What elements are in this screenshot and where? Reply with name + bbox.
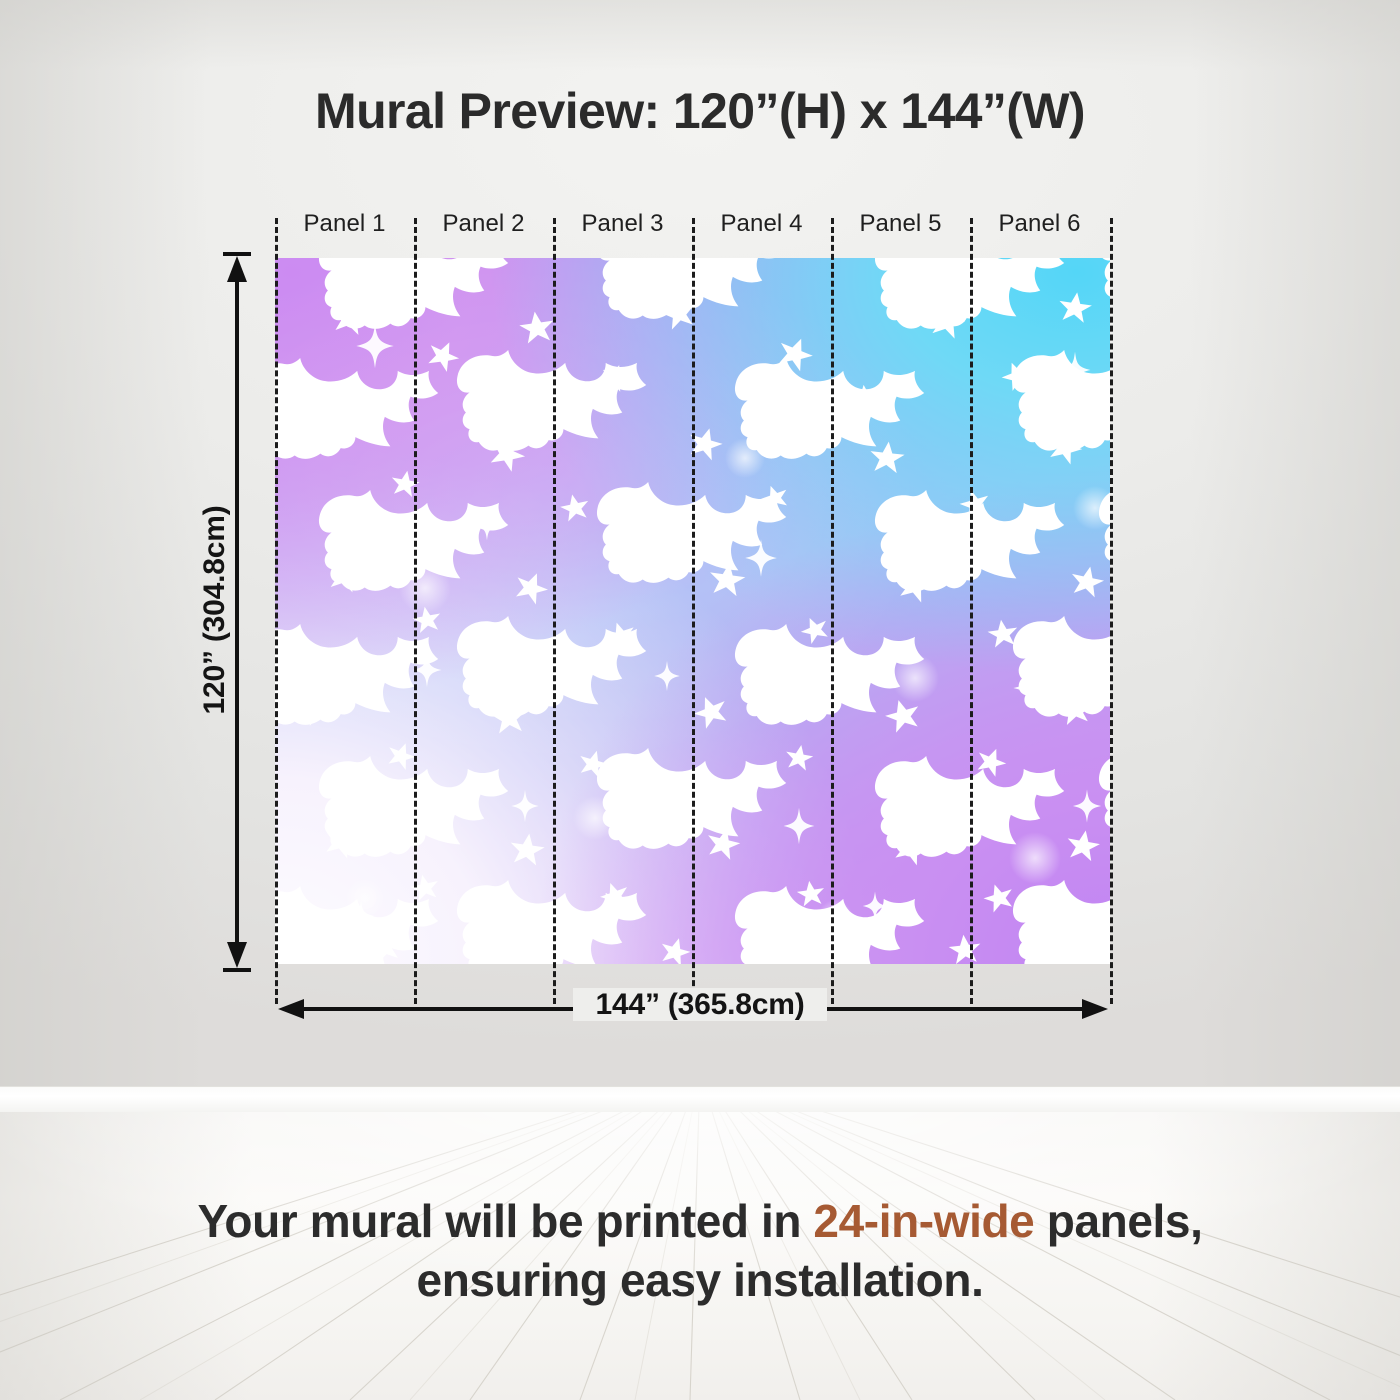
panel-divider-5 bbox=[970, 218, 973, 1004]
panel-label-6: Panel 6 bbox=[970, 210, 1109, 238]
footer-caption: Your mural will be printed in 24-in-wide… bbox=[100, 1192, 1300, 1310]
wall-shadow-left bbox=[0, 0, 210, 1090]
height-dimension-label: 120” (304.8cm) bbox=[198, 430, 244, 790]
panel-divider-left-edge bbox=[275, 218, 278, 1004]
panel-label-1: Panel 1 bbox=[275, 210, 414, 238]
width-dimension-text: 144” (365.8cm) bbox=[573, 988, 826, 1021]
panel-divider-3 bbox=[692, 218, 695, 1004]
panel-divider-right-edge bbox=[1110, 218, 1113, 1004]
page-title: Mural Preview: 120”(H) x 144”(W) bbox=[0, 82, 1400, 140]
caption-lead: Your mural will be printed in bbox=[198, 1195, 814, 1247]
wall-shadow-right bbox=[1190, 0, 1400, 1090]
panel-divider-1 bbox=[414, 218, 417, 1004]
caption-accent: 24-in-wide bbox=[813, 1195, 1034, 1247]
panel-divider-4 bbox=[831, 218, 834, 1004]
panel-divider-2 bbox=[553, 218, 556, 1004]
panel-label-4: Panel 4 bbox=[692, 210, 831, 238]
wall-shadow-top bbox=[0, 0, 1400, 70]
panel-label-3: Panel 3 bbox=[553, 210, 692, 238]
baseboard bbox=[0, 1086, 1400, 1112]
mural-preview: Panel 1 Panel 2 Panel 3 Panel 4 Panel 5 … bbox=[275, 258, 1110, 964]
panel-label-5: Panel 5 bbox=[831, 210, 970, 238]
width-dimension-label: 144” (365.8cm) bbox=[0, 988, 1400, 1022]
panel-label-2: Panel 2 bbox=[414, 210, 553, 238]
